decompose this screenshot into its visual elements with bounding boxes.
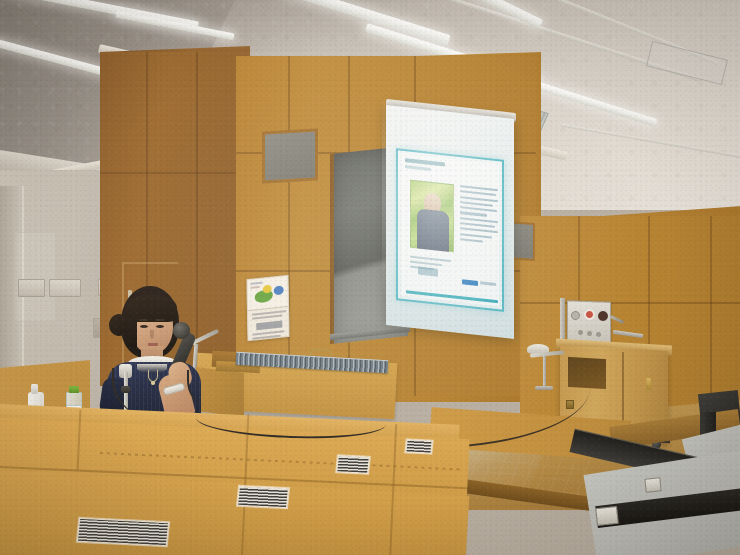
eye-left <box>140 325 148 328</box>
desk-ventilation-grille <box>237 486 289 508</box>
projection-screen <box>386 105 514 339</box>
desk-power-outlet[interactable] <box>644 477 661 493</box>
poster-heading-text <box>256 321 282 331</box>
dispenser-nozzle[interactable] <box>31 384 38 394</box>
nose <box>150 330 154 339</box>
control-button-grey[interactable] <box>571 311 580 320</box>
poster-text-line <box>252 315 282 320</box>
hair-side-strand <box>125 308 137 348</box>
desk-ventilation-grille <box>405 439 432 453</box>
eyebrow-left <box>139 319 148 321</box>
slide-body-text <box>460 185 498 247</box>
projected-slide <box>396 148 504 312</box>
eyebrow-right <box>155 319 164 321</box>
power-button-red[interactable] <box>584 309 595 320</box>
slide-portrait-photo <box>410 180 454 253</box>
panel-seam <box>100 172 240 174</box>
eye-right <box>156 325 164 328</box>
wall-switch-plate[interactable] <box>18 279 45 297</box>
desk-ventilation-grille <box>336 455 370 473</box>
panel-edge-highlight <box>122 262 178 264</box>
control-button-small[interactable] <box>587 331 592 336</box>
desk-ventilation-grille <box>77 518 169 546</box>
desk-power-outlet[interactable] <box>595 506 619 526</box>
panel-seam <box>520 302 740 304</box>
wall-switch-plate[interactable] <box>49 279 81 297</box>
wall-speaker-grille <box>262 128 318 183</box>
panel-seam <box>288 56 290 396</box>
control-button-small[interactable] <box>578 330 583 335</box>
control-button-small[interactable] <box>596 332 601 337</box>
control-button-dark[interactable] <box>598 311 608 321</box>
av-cart-door-handle[interactable] <box>646 378 651 390</box>
microphone-head <box>173 322 190 339</box>
bottle-cap[interactable] <box>69 386 79 393</box>
slide-photo-body <box>417 208 449 251</box>
panel-seam <box>710 216 712 416</box>
lecture-hall-photo: A woman speaks into a handheld microphon… <box>0 0 740 555</box>
wall-flush-panel <box>14 232 56 322</box>
wall-poster <box>246 275 289 341</box>
